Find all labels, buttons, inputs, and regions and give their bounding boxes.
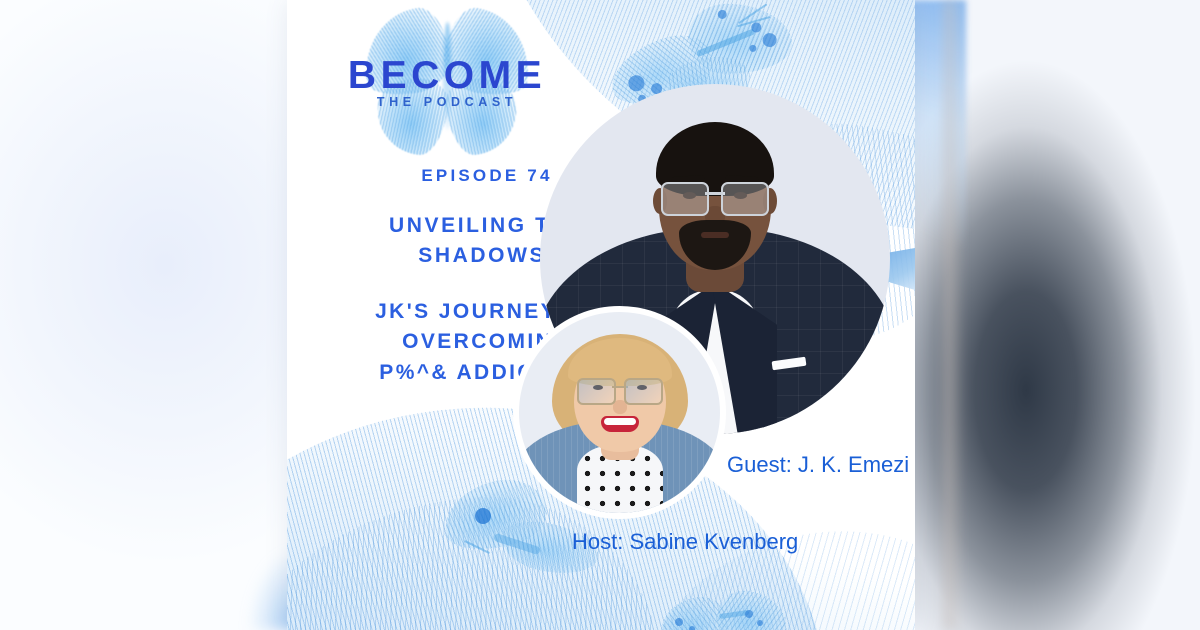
- logo-wordmark: BECOME: [347, 56, 547, 95]
- podcast-cover-canvas: BECOME THE PODCAST EPISODE 74 UNVEILING …: [0, 0, 1200, 630]
- butterfly-icon-bottom-right: [661, 592, 791, 630]
- guest-eyeglasses: [661, 182, 769, 212]
- butterfly-spot: [689, 626, 695, 630]
- host-lens-left: [577, 378, 616, 405]
- guest-lens-right: [721, 182, 769, 216]
- backdrop-right: [900, 0, 1200, 630]
- logo-tagline: THE PODCAST: [347, 96, 547, 109]
- host-mouth: [601, 416, 639, 432]
- butterfly-spot: [675, 618, 683, 626]
- host-eyeglasses: [577, 378, 663, 401]
- guest-credit: Guest: J. K. Emezi: [727, 452, 909, 478]
- butterfly-spot: [475, 508, 491, 524]
- host-credit: Host: Sabine Kvenberg: [572, 529, 798, 555]
- butterfly-spot: [757, 620, 763, 626]
- guest-mouth: [701, 232, 729, 238]
- host-lens-right: [624, 378, 663, 405]
- backdrop-left: [0, 0, 300, 630]
- cover-panel: BECOME THE PODCAST EPISODE 74 UNVEILING …: [287, 0, 915, 630]
- host-teeth: [604, 418, 636, 425]
- podcast-logo: BECOME THE PODCAST: [347, 4, 547, 156]
- guest-lens-left: [661, 182, 709, 216]
- butterfly-spot: [745, 610, 753, 618]
- butterfly-wing: [713, 586, 792, 630]
